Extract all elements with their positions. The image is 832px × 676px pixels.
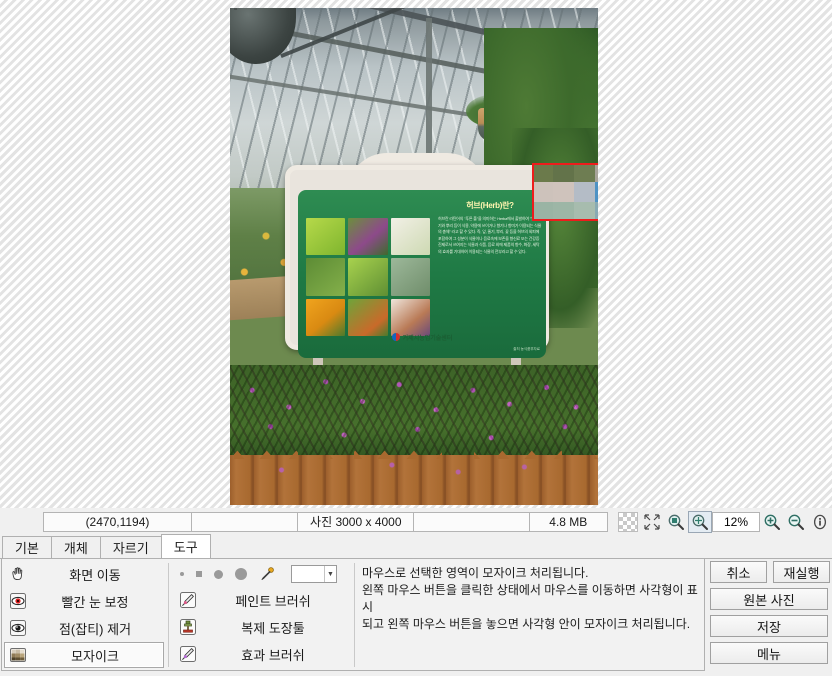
mosaic-tile [532, 163, 553, 182]
effect-brush-icon [177, 644, 199, 664]
mosaic-tile [553, 163, 574, 182]
spot-removal-icon [7, 618, 29, 638]
zoom-out-button[interactable] [784, 511, 808, 533]
fit-screen-button[interactable] [640, 511, 664, 533]
hand-icon [7, 564, 29, 584]
sign-footer-text: 거제시농업기술센터 [403, 333, 453, 342]
mosaic-icon [7, 645, 29, 665]
herb-signboard: 허브(Herb)란? 허브란 라틴어의 "푸른 풀"을 의미하는 Herba에서… [285, 153, 549, 358]
file-size-field: 4.8 MB [529, 512, 608, 532]
zoom-actual-size-icon [667, 513, 685, 531]
sign-photo-cell [306, 258, 345, 295]
action-buttons: 취소 재실행 원본 사진 저장 메뉴 [710, 561, 830, 673]
sign-photo-cell [391, 258, 430, 295]
panel-divider-1 [168, 563, 169, 667]
sign-footer: 거제시농업기술센터 [290, 329, 554, 345]
chevron-down-icon: ▼ [324, 566, 336, 582]
tool-red-eye[interactable]: 빨간 눈 보정 [4, 588, 164, 614]
instruction-text: 마우스로 선택한 영역이 모자이크 처리됩니다. 왼쪽 마우스 버튼을 클릭한 … [358, 563, 702, 667]
zoom-fit-window-button[interactable] [688, 511, 712, 533]
mosaic-tile [595, 202, 598, 221]
cursor-coordinates-field: (2470,1194) [43, 512, 192, 532]
zoom-in-button[interactable] [760, 511, 784, 533]
tool-effect-brush[interactable]: 효과 브러쉬 [174, 641, 350, 667]
canvas-area[interactable]: 허브(Herb)란? 허브란 라틴어의 "푸른 풀"을 의미하는 Herba에서… [0, 0, 832, 508]
panel-divider-2 [354, 563, 355, 667]
tab-basic[interactable]: 기본 [2, 536, 52, 558]
instruction-line-2: 왼쪽 마우스 버튼을 클릭한 상태에서 마우스를 이동하면 사각형이 표시 [362, 582, 698, 616]
eyedropper-icon[interactable] [259, 566, 275, 582]
zoom-actual-size-button[interactable] [664, 511, 688, 533]
lamp-rod [234, 8, 237, 10]
redo-button[interactable]: 재실행 [773, 561, 830, 583]
brush-size-m[interactable] [214, 570, 223, 579]
instruction-line-3: 되고 왼쪽 마우스 버튼을 놓으면 사각형 안이 모자이크 처리됩니다. [362, 616, 698, 633]
save-button[interactable]: 저장 [710, 615, 828, 637]
mosaic-tile [532, 182, 553, 201]
zoom-toolbar: 12% [616, 511, 832, 533]
sign-photo-cell [348, 258, 387, 295]
tool-paint-brush-label: 페인트 브러쉬 [199, 591, 347, 610]
tool-red-eye-label: 빨간 눈 보정 [29, 592, 161, 611]
mosaic-tile [595, 182, 598, 201]
mosaic-tiles [532, 163, 598, 221]
mosaic-selection[interactable]: 드래그 [532, 163, 598, 221]
tool-clone-stamp-label: 복제 도장툴 [199, 618, 347, 637]
zoom-out-icon [787, 513, 805, 531]
tool-mosaic[interactable]: 모자이크 [4, 642, 164, 668]
mosaic-tile [574, 202, 595, 221]
photo-canvas[interactable]: 허브(Herb)란? 허브란 라틴어의 "푸른 풀"을 의미하는 Herba에서… [230, 8, 598, 505]
sign-photo-grid [306, 218, 430, 336]
info-icon [811, 513, 829, 531]
sign-photo-cell [391, 218, 430, 255]
bottom-panel: 화면 이동 빨간 눈 보정 [0, 559, 832, 676]
transparency-checker-button[interactable] [616, 511, 640, 533]
tool-clone-stamp[interactable]: 복제 도장툴 [174, 614, 350, 640]
tool-mosaic-label: 모자이크 [29, 646, 161, 665]
sign-frame: 허브(Herb)란? 허브란 라틴어의 "푸른 풀"을 의미하는 Herba에서… [285, 165, 549, 350]
brush-size-xs[interactable] [180, 572, 184, 576]
mosaic-tile [553, 182, 574, 201]
app-window: 허브(Herb)란? 허브란 라틴어의 "푸른 풀"을 의미하는 Herba에서… [0, 0, 832, 676]
mosaic-tile [595, 163, 598, 182]
tool-pan-label: 화면 이동 [29, 565, 161, 584]
instruction-line-1: 마우스로 선택한 영역이 모자이크 처리됩니다. [362, 565, 698, 582]
info-button[interactable] [808, 511, 832, 533]
checker-icon [618, 512, 638, 532]
clone-stamp-icon [177, 617, 199, 637]
brush-size-selector: ▼ [174, 561, 350, 587]
fence-trailing-flowers [230, 455, 598, 505]
original-photo-button[interactable]: 원본 사진 [710, 588, 828, 610]
status-bar: (2470,1194) 사진 3000 x 4000 4.8 MB [0, 508, 832, 535]
status-blank-field-1 [191, 512, 298, 532]
tool-list-middle: ▼ 페인트 브러쉬 [174, 561, 350, 667]
mosaic-tile [574, 182, 595, 201]
mosaic-tile [574, 163, 595, 182]
paint-brush-icon [177, 590, 199, 610]
fit-screen-icon [643, 513, 661, 531]
menu-button[interactable]: 메뉴 [710, 642, 828, 664]
tab-bar: 기본 개체 자르기 도구 [0, 535, 832, 559]
brush-size-s[interactable] [196, 571, 202, 577]
sign-title: 허브(Herb)란? [438, 200, 542, 211]
undo-redo-row: 취소 재실행 [710, 561, 830, 588]
sign-credit: 출처 농식품부자료 [513, 347, 540, 352]
tab-object[interactable]: 개체 [51, 536, 101, 558]
red-eye-icon [7, 591, 29, 611]
status-blank-field-2 [413, 512, 529, 532]
color-picker-combo[interactable]: ▼ [291, 565, 337, 583]
image-dimensions-field: 사진 3000 x 4000 [297, 512, 414, 532]
city-logo-icon [392, 333, 400, 341]
tool-spot-removal[interactable]: 점(잡티) 제거 [4, 615, 164, 641]
sign-photo-cell [348, 218, 387, 255]
sign-photo-cell [306, 218, 345, 255]
zoom-in-icon [763, 513, 781, 531]
mosaic-tile [532, 202, 553, 221]
zoom-level-field[interactable]: 12% [712, 512, 760, 532]
zoom-fit-window-icon [691, 513, 709, 531]
tool-panel: 화면 이동 빨간 눈 보정 [1, 559, 705, 671]
tool-effect-brush-label: 효과 브러쉬 [199, 645, 347, 664]
undo-button[interactable]: 취소 [710, 561, 767, 583]
tab-tools[interactable]: 도구 [161, 534, 211, 558]
tool-paint-brush[interactable]: 페인트 브러쉬 [174, 587, 350, 613]
sign-body-text: 허브란 라틴어의 "푸른 풀"을 의미하는 Herba에서 출발하여 "잎, 줄… [438, 216, 542, 326]
tab-crop[interactable]: 자르기 [100, 536, 162, 558]
tool-list-left: 화면 이동 빨간 눈 보정 [4, 561, 164, 667]
tool-pan[interactable]: 화면 이동 [4, 561, 164, 587]
brush-size-l[interactable] [235, 568, 247, 580]
tool-spot-removal-label: 점(잡티) 제거 [29, 619, 161, 638]
mosaic-tile [553, 202, 574, 221]
